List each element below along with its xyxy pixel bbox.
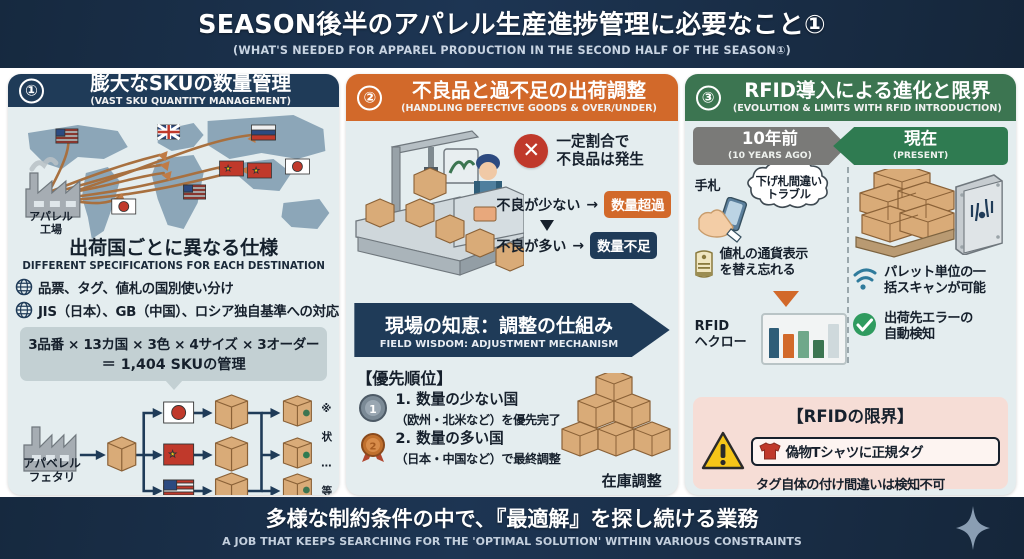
fake-tag-chip: 偽物Tシャツに正規タグ <box>751 437 1000 466</box>
distribution-flow-diagram: ★ <box>8 391 339 495</box>
infographic-page: SEASON後半のアパレル生産進捗管理に必要なこと① (WHAT'S NEEDE… <box>0 0 1024 559</box>
china-flag-icon: ★ <box>220 161 244 176</box>
footer-subtitle: A JOB THAT KEEPS SEARCHING FOR THE 'OPTI… <box>222 535 802 548</box>
price-tag-row: 値札の通貨表示 を替え忘れる <box>693 247 808 279</box>
china-flag-icon: ★ <box>164 444 194 465</box>
list-item: JIS（日本）、GB（中国）、ロシア独自基準への対応 <box>15 300 339 320</box>
panel2-subtitle: (HANDLING DEFECTIVE GOODS & OVER/UNDER) <box>401 103 657 114</box>
world-map-illustration: ★ ★ アパレル 工場 <box>8 107 339 249</box>
feature-line1: 出荷先エラーの <box>884 311 973 327</box>
defect-text-line1: 一定割合で <box>556 133 644 151</box>
box-icon <box>216 437 248 471</box>
flow-source-line1: アパベレル <box>12 457 92 470</box>
box-icon <box>216 473 248 495</box>
hand-scanner-icon <box>695 197 755 243</box>
feature-line1: パレット単位の一 <box>884 265 986 281</box>
sparkle-icon <box>956 506 990 550</box>
feature-text: パレット単位の一 括スキャンが可能 <box>884 265 986 297</box>
panel1-heading-en: DIFFERENT SPECIFICATIONS FOR EACH DESTIN… <box>8 261 339 272</box>
bubble-text: 下げ札間違い トラブル <box>741 175 837 201</box>
arrow-down-icon <box>773 291 799 307</box>
priority-line1: 1. 数量の少ない国 <box>395 392 560 409</box>
x-mark-icon: ✕ <box>514 134 548 168</box>
panel2-top-section: ✕ 一定割合で 不良品は発生 不良が少ない → 数量超過 <box>346 121 677 301</box>
era-present: 現在 (PRESENT) <box>833 127 1008 165</box>
japan-flag-icon <box>164 402 194 423</box>
check-circle-icon <box>852 312 877 337</box>
defect-text: 一定割合で 不良品は発生 <box>556 133 644 168</box>
panel1-bullets: 品票、タグ、値札の国別使い分け JIS（日本）、GB（中国）、ロシア独自基準への… <box>15 277 339 320</box>
panel-rfid: ③ RFID導入による進化と限界 (EVOLUTION & LIMITS WIT… <box>685 74 1016 495</box>
chart-bar <box>798 331 809 358</box>
panel1-heading-jp: 出荷国ごとに異なる仕様 <box>8 233 339 260</box>
defect-notice: ✕ 一定割合で 不良品は発生 <box>514 133 644 168</box>
panel1-subtitle: (VAST SKU QUANTITY MANAGEMENT) <box>90 96 291 107</box>
medal-bronze-icon: 2 <box>358 432 388 462</box>
arrow-right-icon: → <box>572 238 584 254</box>
priority-line1: 2. 数量の多い国 <box>395 431 560 448</box>
labeled-box-icon <box>283 438 311 468</box>
svg-text:1: 1 <box>370 403 378 416</box>
panel2-header: ② 不良品と過不足の出荷調整 (HANDLING DEFECTIVE GOODS… <box>346 74 677 121</box>
warning-triangle-icon <box>701 431 745 471</box>
panel1-number: ① <box>19 78 44 103</box>
panel3-number: ③ <box>696 85 721 110</box>
callout-tail <box>165 380 183 390</box>
era-comparison-bar: 10年前 (10 YEARS AGO) 現在 (PRESENT) <box>693 127 1008 165</box>
feature-text: 出荷先エラーの 自動検知 <box>884 311 973 343</box>
condition-list: 不良が少ない → 数量超過 不良が多い → 数量不足 <box>496 191 671 261</box>
pallet-boxes-icon <box>854 169 956 261</box>
condition-row: 不良が少ない → 数量超過 <box>496 191 671 218</box>
bubble-line2: トラブル <box>741 188 837 201</box>
priority-line2: （日本・中国など）で最終調整 <box>395 449 560 467</box>
sku-formula: 3品番 × 13カ国 × 3色 × 4サイズ × 3オーダー <box>24 333 323 353</box>
svg-text:★: ★ <box>253 166 260 175</box>
era-past: 10年前 (10 YEARS AGO) <box>693 127 848 165</box>
price-tag-icon <box>693 249 715 279</box>
banner-title-jp: 現場の知恵：調整の仕組み <box>385 311 613 338</box>
medal-silver-icon: 1 <box>358 393 388 423</box>
globe-icon <box>15 278 33 296</box>
list-item: 品票、タグ、値札の国別使い分け <box>15 277 339 297</box>
bullet-label: 品票、タグ、値札の国別使い分け <box>38 277 233 297</box>
rfid-label-line1: RFID <box>695 319 761 335</box>
hand-label: 手札 <box>695 175 721 194</box>
svg-text:2: 2 <box>370 441 377 452</box>
panel2-title: 不良品と過不足の出荷調整 <box>412 81 646 101</box>
japan-flag-icon <box>285 159 309 174</box>
feature-error-detection: 出荷先エラーの 自動検知 <box>852 311 973 343</box>
chart-bar <box>769 328 780 358</box>
page-footer: 多様な制約条件の中で、『最適解』を探し続ける業務 A JOB THAT KEEP… <box>0 497 1024 559</box>
limit-right: 偽物Tシャツに正規タグ <box>751 437 1000 466</box>
condition-label: 不良が多い <box>496 236 566 256</box>
footer-title: 多様な制約条件の中で、『最適解』を探し続ける業務 <box>266 508 759 531</box>
feature-line2: 括スキャンが可能 <box>884 281 986 297</box>
rfid-label-line2: ヘクロー <box>695 335 761 351</box>
sku-total: ＝ 1,404 SKUの管理 <box>24 354 323 374</box>
box-icon <box>216 395 248 429</box>
flow-source-line2: フェタリ <box>12 471 92 484</box>
panel3-subtitle: (EVOLUTION & LIMITS WITH RFID INTRODUCTI… <box>733 103 1002 114</box>
page-header: SEASON後半のアパレル生産進捗管理に必要なこと① (WHAT'S NEEDE… <box>0 0 1024 68</box>
rfid-chart-label: RFID ヘクロー <box>695 319 761 350</box>
tag-text-line1: 値札の通貨表示 <box>720 247 808 263</box>
chart-bar <box>813 340 824 358</box>
tshirt-icon <box>759 442 781 460</box>
banner-title-en: FIELD WISDOM: ADJUSTMENT MECHANISM <box>380 339 619 350</box>
page-subtitle: (WHAT'S NEEDED FOR APPAREL PRODUCTION IN… <box>233 44 791 57</box>
flow-source-label: アパベレル フェタリ <box>12 457 92 484</box>
china-flag-icon-2: ★ <box>248 163 272 178</box>
panel3-title: RFID導入による進化と限界 <box>744 81 990 101</box>
chart-bar <box>783 334 794 358</box>
priority-line2: （欧州・北米など）を優先完了 <box>395 410 560 428</box>
panel-sku-quantity: ① 膨大なSKUの数量管理 (VAST SKU QUANTITY MANAGEM… <box>8 74 339 495</box>
arrow-right-icon: → <box>586 197 598 213</box>
usa-flag-icon-2 <box>184 185 206 199</box>
condition-label: 不良が少ない <box>496 195 580 215</box>
tag-text-line2: を替え忘れる <box>720 263 808 279</box>
era-present-en: (PRESENT) <box>893 150 948 161</box>
panel2-number: ② <box>357 85 382 110</box>
page-title: SEASON後半のアパレル生産進捗管理に必要なこと① <box>198 11 826 39</box>
panel1-title: 膨大なSKUの数量管理 <box>90 74 291 94</box>
column-divider <box>847 167 849 363</box>
stacked-boxes-icon <box>556 373 674 469</box>
status-badge: 数量超過 <box>604 191 671 218</box>
svg-text:★: ★ <box>225 164 232 173</box>
panels-container: ① 膨大なSKUの数量管理 (VAST SKU QUANTITY MANAGEM… <box>0 70 1024 495</box>
chart-bar <box>828 324 839 358</box>
field-wisdom-banner: 現場の知恵：調整の仕組み FIELD WISDOM: ADJUSTMENT ME… <box>354 303 669 357</box>
status-badge: 数量不足 <box>590 232 657 259</box>
arrow-down-icon <box>540 220 554 231</box>
limit-note: タグ自体の付け間違いは検知不可 <box>701 474 1000 493</box>
japan-flag-icon-2 <box>112 199 136 214</box>
uk-flag-icon <box>158 125 180 139</box>
condition-row: 不良が多い → 数量不足 <box>496 232 671 259</box>
limit-row: 偽物Tシャツに正規タグ <box>701 431 1000 471</box>
panel1-heading-block: 出荷国ごとに異なる仕様 DIFFERENT SPECIFICATIONS FOR… <box>8 233 339 272</box>
priority-text: 2. 数量の多い国 （日本・中国など）で最終調整 <box>395 431 560 467</box>
rfid-reader-icon <box>950 173 1006 255</box>
sku-calculation-box: 3品番 × 13カ国 × 3色 × 4サイズ × 3オーダー ＝ 1,404 S… <box>20 327 327 381</box>
era-past-en: (10 YEARS AGO) <box>728 150 812 161</box>
flow-vertical-note: ※ 状 … 等 <box>318 403 334 495</box>
labeled-box-icon <box>283 396 311 426</box>
globe-icon <box>15 301 33 319</box>
panel3-columns: 手札 下げ札間違い トラブル <box>685 165 1016 377</box>
panel1-body: ★ ★ アパレル 工場 出荷国ごとに異なる仕様 DIFFEREN <box>8 107 339 495</box>
defect-text-line2: 不良品は発生 <box>556 151 644 169</box>
limit-title: 【RFIDの限界】 <box>701 403 1000 427</box>
price-tag-text: 値札の通貨表示 を替え忘れる <box>720 247 808 278</box>
panel-defect-adjustment: ② 不良品と過不足の出荷調整 (HANDLING DEFECTIVE GOODS… <box>346 74 677 495</box>
bar-chart-icon <box>761 313 847 365</box>
panel1-header: ① 膨大なSKUの数量管理 (VAST SKU QUANTITY MANAGEM… <box>8 74 339 107</box>
panel2-body: ✕ 一定割合で 不良品は発生 不良が少ない → 数量超過 <box>346 121 677 495</box>
wifi-icon <box>852 266 877 291</box>
panel3-body: 10年前 (10 YEARS AGO) 現在 (PRESENT) 手札 <box>685 121 1016 495</box>
russia-flag-icon <box>252 125 276 140</box>
feature-pallet-scan: パレット単位の一 括スキャンが可能 <box>852 265 986 297</box>
usa-flag-icon <box>56 129 78 143</box>
era-past-jp: 10年前 <box>742 131 798 148</box>
panel3-header: ③ RFID導入による進化と限界 (EVOLUTION & LIMITS WIT… <box>685 74 1016 121</box>
usa-flag-icon <box>164 480 194 495</box>
bullet-label: JIS（日本）、GB（中国）、ロシア独自基準への対応 <box>38 300 339 320</box>
fake-tag-text: 偽物Tシャツに正規タグ <box>786 441 924 461</box>
feature-line2: 自動検知 <box>884 327 973 343</box>
box-icon <box>108 437 136 471</box>
rfid-limit-box: 【RFIDの限界】 偽物Tシャツに正規タグ <box>693 397 1008 489</box>
svg-text:★: ★ <box>169 450 177 460</box>
labeled-box-icon <box>283 474 311 495</box>
stack-label: 在庫調整 <box>602 470 662 491</box>
priority-text: 1. 数量の少ない国 （欧州・北米など）を優先完了 <box>395 392 560 428</box>
era-present-jp: 現在 <box>904 131 937 148</box>
